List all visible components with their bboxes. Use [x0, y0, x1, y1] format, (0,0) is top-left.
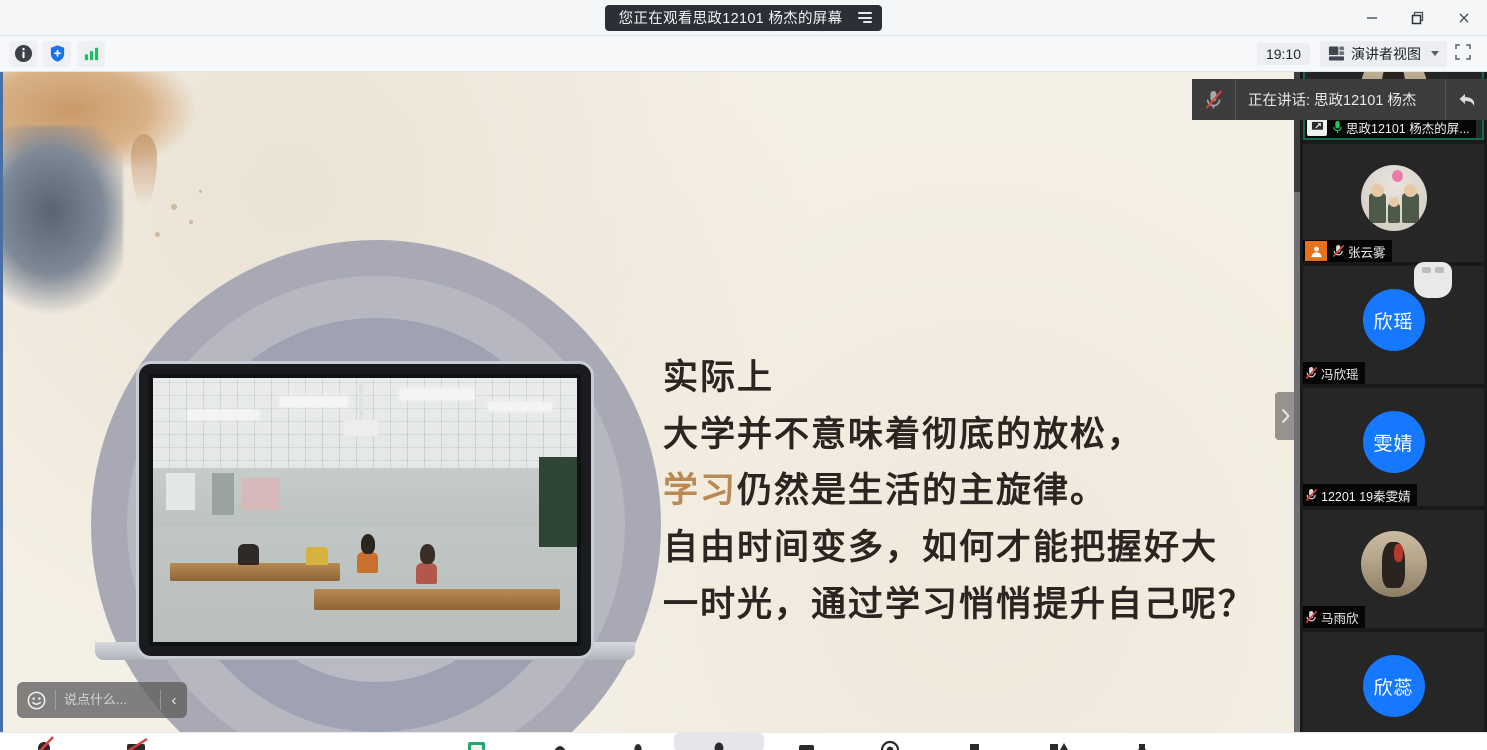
signal-bars-icon[interactable] [77, 41, 105, 67]
mic-on-icon [1332, 120, 1343, 134]
participant-label: 马雨欣 [1303, 606, 1365, 628]
meeting-window: 您正在观看思政12101 杨杰的屏幕 [0, 0, 1487, 750]
shield-icon[interactable] [43, 41, 71, 67]
mic-muted-icon [1305, 610, 1318, 624]
speaker-view-icon [1328, 45, 1345, 62]
slide-line: 大学并不意味着彻底的放松， [663, 407, 1283, 464]
chat-placeholder-text[interactable]: 说点什么... [55, 690, 161, 710]
bottom-toolbar-more[interactable] [1100, 733, 1184, 750]
emoji-smiley-icon[interactable] [17, 691, 55, 710]
mic-muted-icon [1192, 79, 1236, 120]
classroom-lecture-hall-photo [153, 378, 577, 642]
restore-button[interactable] [1395, 0, 1441, 36]
bottom-toolbar-whiteboard[interactable] [518, 733, 602, 750]
bottom-toolbar-record[interactable] [848, 733, 932, 750]
ink-dot-icon [155, 232, 160, 237]
avatar: 雯婧 [1363, 411, 1425, 473]
participant-label: 张云雾 [1303, 240, 1392, 262]
bottom-toolbar-chat[interactable] [764, 733, 848, 750]
minimize-button[interactable] [1349, 0, 1395, 36]
participant-tile[interactable]: 张云雾 [1303, 144, 1484, 262]
avatar: 欣瑶 [1363, 289, 1425, 351]
participant-label: 冯欣瑶 [1303, 362, 1365, 384]
bottom-toolbar-mic[interactable] [0, 733, 92, 750]
back-arrow-icon[interactable] [1445, 79, 1487, 120]
participant-label: 12201 19秦雯婧 [1303, 484, 1417, 506]
ink-dot-icon [171, 204, 177, 210]
slide-line-rest: 仍然是生活的主旋律。 [737, 470, 1107, 511]
view-mode-selector[interactable]: 演讲者视图 [1320, 41, 1447, 67]
bottom-toolbar-document[interactable] [932, 733, 1016, 750]
chevron-left-icon[interactable]: ‹ [161, 692, 187, 709]
host-badge-icon [1305, 241, 1327, 261]
participant-name: 冯欣瑶 [1321, 364, 1359, 383]
laptop-screen-frame [139, 364, 591, 656]
mic-muted-icon [1305, 488, 1318, 502]
bottom-toolbar-raise-hand[interactable] [602, 733, 674, 750]
title-bar: 您正在观看思政12101 杨杰的屏幕 [0, 0, 1487, 36]
bottom-toolbar-gap [184, 733, 434, 750]
meeting-timer: 19:10 [1257, 43, 1310, 65]
meeting-toolbar: 19:10 演讲者视图 [0, 36, 1487, 72]
slide-text-block: 实际上 大学并不意味着彻底的放松， 学习仍然是生活的主旋律。 自由时间变多，如何… [663, 350, 1283, 633]
participants-panel: 思政12101 杨杰的屏... 张云雾 [1300, 72, 1487, 750]
slide-highlight-text: 学习 [663, 470, 737, 511]
info-icon[interactable] [9, 41, 37, 67]
ink-dot-icon [189, 220, 193, 224]
participant-name: 思政12101 杨杰的屏... [1346, 118, 1470, 137]
chat-input-bar[interactable]: 说点什么... ‹ [17, 682, 187, 718]
bottom-toolbar-participants[interactable] [674, 733, 764, 750]
watching-screen-pill[interactable]: 您正在观看思政12101 杨杰的屏幕 [605, 5, 883, 31]
participant-tile[interactable]: 马雨欣 [1303, 510, 1484, 628]
avatar [1361, 531, 1427, 597]
ink-dot-icon [199, 190, 202, 193]
participant-name: 马雨欣 [1321, 608, 1359, 627]
close-button[interactable] [1441, 0, 1487, 36]
cursor-overlay-icon [1414, 262, 1452, 298]
participant-tile[interactable]: 欣瑶 冯欣瑶 [1303, 266, 1484, 384]
participant-tile[interactable]: 雯婧 12201 19秦雯婧 [1303, 388, 1484, 506]
share-screen-icon [1307, 118, 1327, 136]
hamburger-menu-icon[interactable] [854, 12, 872, 23]
laptop-mockup [87, 294, 647, 684]
avatar [1361, 165, 1427, 231]
slide-line: 一时光，通过学习悄悄提升自己呢？ [663, 577, 1283, 634]
fullscreen-icon[interactable] [1453, 42, 1477, 66]
bottom-toolbar-camera[interactable] [92, 733, 184, 750]
slide-line: 实际上 [663, 350, 1283, 407]
collapse-panel-button[interactable] [1275, 392, 1295, 440]
view-mode-label: 演讲者视图 [1351, 44, 1421, 64]
bottom-toolbar-share-screen[interactable] [434, 733, 518, 750]
bottom-toolbar [0, 732, 1487, 750]
shared-screen-stage: 实际上 大学并不意味着彻底的放松， 学习仍然是生活的主旋律。 自由时间变多，如何… [0, 72, 1300, 732]
slide-line-with-highlight: 学习仍然是生活的主旋律。 [663, 463, 1283, 520]
speaking-label: 正在讲话: 思政12101 杨杰 [1236, 89, 1445, 110]
bottom-toolbar-apps[interactable] [1016, 733, 1100, 750]
participant-name: 张云雾 [1348, 242, 1386, 261]
avatar: 欣蕊 [1363, 655, 1425, 717]
mic-muted-icon [1305, 366, 1318, 380]
window-controls [1349, 0, 1487, 36]
chevron-down-icon[interactable] [1431, 51, 1439, 56]
slide-line: 自由时间变多，如何才能把握好大 [663, 520, 1283, 577]
watching-screen-label: 您正在观看思政12101 杨杰的屏幕 [619, 7, 843, 28]
participant-name: 12201 19秦雯婧 [1321, 486, 1411, 505]
mic-muted-icon [1332, 244, 1345, 258]
speaking-toast[interactable]: 正在讲话: 思政12101 杨杰 [1192, 79, 1487, 120]
